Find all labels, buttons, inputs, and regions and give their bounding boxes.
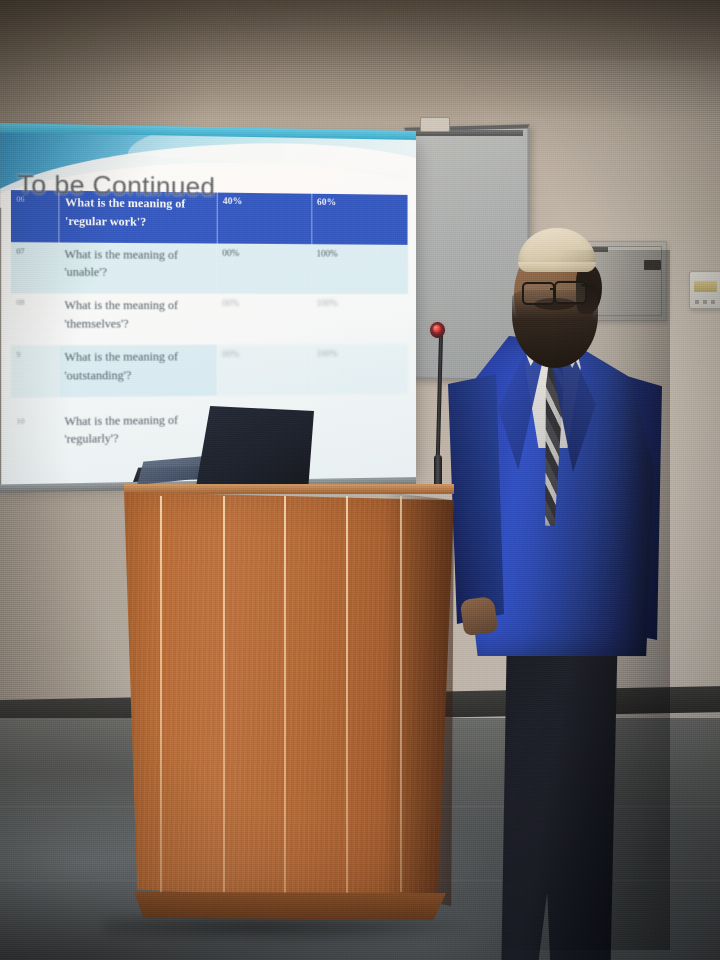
presenter-cap-band <box>518 262 596 272</box>
wooden-podium <box>124 484 454 924</box>
table-row: 9 What is the meaning of 'outstanding'? … <box>11 344 408 397</box>
row-value-1: 00% <box>217 243 311 294</box>
row-value-2: 100% <box>311 244 407 294</box>
question-line-1: What is the meaning of <box>64 246 211 265</box>
presenter-trousers <box>500 620 618 960</box>
row-value-2 <box>311 394 407 457</box>
question-line-1: What is the meaning of <box>64 349 211 368</box>
row-number: 07 <box>11 242 59 294</box>
podium-side-shadow <box>384 492 454 906</box>
question-line-1: What is the meaning of <box>64 412 211 432</box>
wall-shadow-top <box>0 0 720 120</box>
row-value-2: 100% <box>311 294 407 344</box>
whiteboard-clip <box>420 117 450 132</box>
row-value-1: 40% <box>217 193 311 244</box>
row-value-2: 60% <box>311 194 407 245</box>
row-question: What is the meaning of 'unable'? <box>59 242 217 294</box>
row-question: What is the meaning of 'themselves'? <box>59 294 217 346</box>
question-line-2: 'outstanding'? <box>64 367 211 386</box>
photo-scene: To be Continued 06 What is the meaning o… <box>0 0 720 960</box>
table-row: 07 What is the meaning of 'unable'? 00% … <box>11 242 408 294</box>
wall-thermostat[interactable] <box>689 271 720 309</box>
question-line-2: 'unable'? <box>64 265 211 284</box>
slide-title: To be Continued <box>17 170 215 202</box>
row-question: What is the meaning of 'outstanding'? <box>59 345 217 397</box>
presenter-arm-left <box>448 374 504 624</box>
glasses-bridge <box>550 288 556 290</box>
row-number: 9 <box>11 345 59 397</box>
thermostat-screen <box>694 281 717 292</box>
table-row: 08 What is the meaning of 'themselves'? … <box>11 294 408 346</box>
row-value-2: 100% <box>311 344 407 395</box>
row-value-1: 00% <box>217 344 311 395</box>
laptop-lid[interactable] <box>196 406 314 490</box>
row-question: What is the meaning of 'regularly'? <box>59 395 217 460</box>
podium-base-plinth <box>134 892 446 920</box>
question-line-2: 'regular work'? <box>65 213 211 233</box>
podium-top-edge <box>124 484 454 494</box>
row-number: 10 <box>11 397 59 462</box>
presenter <box>440 250 670 950</box>
podium-panel-seam <box>346 496 348 898</box>
row-value-1: 00% <box>217 294 311 345</box>
row-number: 08 <box>11 294 59 346</box>
podium-panel-seam <box>223 496 225 902</box>
podium-panel-seam <box>160 496 162 900</box>
question-line-2: 'regularly'? <box>64 430 211 450</box>
presenter-hand <box>460 596 499 636</box>
podium-panel-seam <box>284 496 286 902</box>
question-line-2: 'themselves'? <box>64 316 211 335</box>
thermostat-buttons[interactable] <box>695 300 716 304</box>
glasses-icon <box>522 282 555 305</box>
question-line-1: What is the meaning of <box>64 298 211 316</box>
